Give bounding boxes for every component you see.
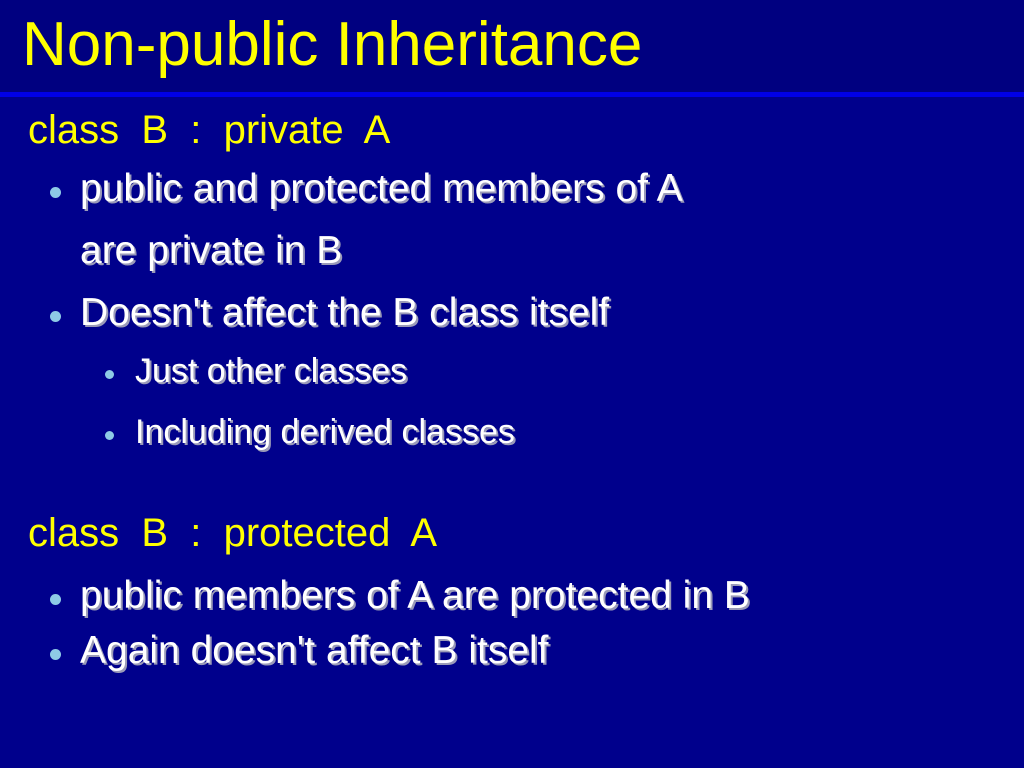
list-item-label: Again doesn't affect B itself (80, 627, 549, 675)
list-item: Again doesn't affect B itself (50, 627, 549, 675)
list-item-nested: Including derived classes (105, 411, 515, 454)
page-title: Non-public Inheritance (22, 8, 642, 82)
list-item: public members of A are protected in B (50, 572, 750, 620)
bullet-dot-icon (50, 594, 61, 605)
list-item-label: Doesn't affect the B class itself (80, 289, 609, 337)
slide-body: class B : private A public and protected… (0, 97, 1024, 768)
bullet-dot-icon (105, 370, 114, 379)
bullet-dot-icon (105, 431, 114, 440)
list-item: Doesn't affect the B class itself (50, 289, 609, 337)
bullet-dot-icon (50, 187, 61, 198)
code-heading-private: class B : private A (28, 106, 390, 154)
slide: Non-public Inheritance class B : private… (0, 0, 1024, 768)
bullet-dot-icon (50, 649, 61, 660)
list-item-label: public members of A are protected in B (80, 572, 750, 620)
list-item: public and protected members of A (50, 165, 683, 213)
list-item-label: public and protected members of A (80, 165, 683, 213)
code-heading-protected: class B : protected A (28, 509, 437, 557)
list-item-label: Just other classes (135, 350, 407, 393)
list-item-nested: Just other classes (105, 350, 407, 393)
list-item-label-continuation: are private in B (80, 227, 342, 275)
list-item-label: Including derived classes (135, 411, 515, 454)
bullet-dot-icon (50, 311, 61, 322)
